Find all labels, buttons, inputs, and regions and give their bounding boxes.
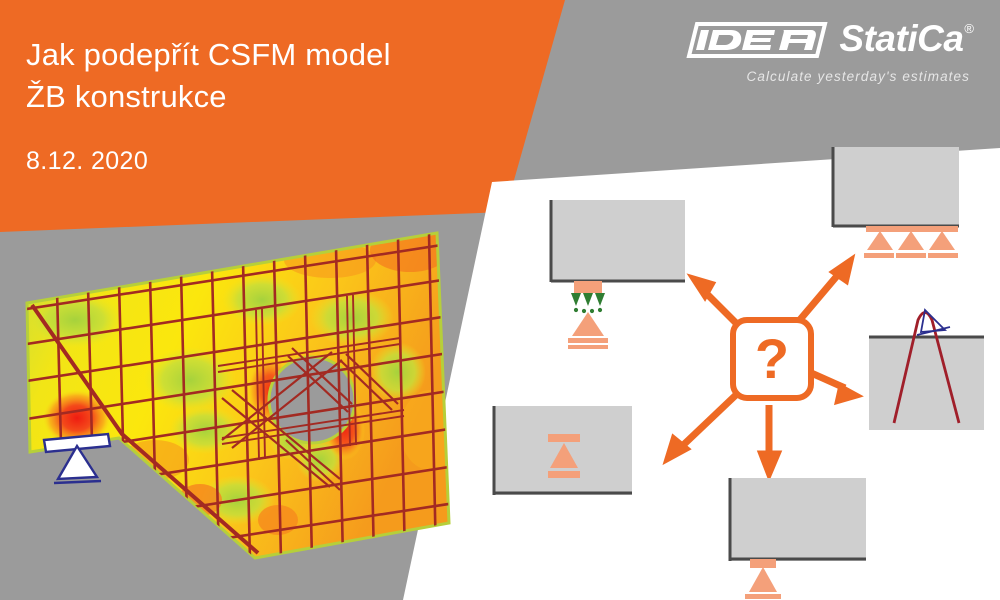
question-node[interactable]: ? xyxy=(733,320,811,398)
event-date: 8.12. 2020 xyxy=(26,146,496,176)
bonded-point-support-tile[interactable] xyxy=(551,200,685,349)
logo-wordmark: StatiCa xyxy=(839,20,963,57)
arrow-down xyxy=(759,405,780,478)
arrow-up-left xyxy=(690,276,736,323)
tile-body[interactable] xyxy=(869,337,984,430)
support-triangle-1 xyxy=(867,231,893,250)
registered-trademark-icon: ® xyxy=(964,22,974,35)
support-base-line xyxy=(745,594,781,599)
tile-body[interactable] xyxy=(730,478,866,561)
internal-support-tile[interactable] xyxy=(494,406,632,495)
tile-body[interactable] xyxy=(833,147,959,227)
support-head-plate xyxy=(574,281,602,293)
single-point-support-icon xyxy=(745,559,781,599)
rebar-loop-support-tile[interactable] xyxy=(869,310,984,430)
support-base-line xyxy=(568,338,608,343)
banner-canvas: ? xyxy=(0,0,1000,600)
distributed-supports-tile[interactable] xyxy=(833,147,959,258)
logo-tagline: Calculate yesterday's estimates xyxy=(679,69,970,84)
arrow-right xyxy=(809,372,860,403)
point-support-with-bond-icon xyxy=(568,281,608,349)
support-ground-3 xyxy=(928,253,958,258)
page-title-line-1: Jak podepřít CSFM model xyxy=(26,34,496,76)
support-ground-line xyxy=(568,345,608,349)
support-triangle-2 xyxy=(898,231,924,250)
arrow-up-right xyxy=(798,257,853,322)
arrow-down-left xyxy=(665,393,738,462)
support-triangle-3 xyxy=(929,231,955,250)
support-ground-1 xyxy=(864,253,894,258)
single-point-support-tile[interactable] xyxy=(730,478,866,599)
question-mark-label: ? xyxy=(755,327,789,390)
support-ground-2 xyxy=(896,253,926,258)
support-triangle-icon xyxy=(572,312,604,336)
idea-logo-mark xyxy=(679,20,829,60)
support-top-plate xyxy=(866,226,958,232)
three-point-line-supports-icon xyxy=(864,226,958,258)
page-title-line-2: ŽB konstrukce xyxy=(26,76,496,118)
headline-block: Jak podepřít CSFM model ŽB konstrukce 8.… xyxy=(26,34,496,176)
tile-body[interactable] xyxy=(551,200,685,282)
brand-logo[interactable]: StatiCa ® Calculate yesterday's estimate… xyxy=(679,20,974,84)
support-base-line xyxy=(548,471,580,478)
support-top-plate xyxy=(548,434,580,442)
bond-arrows-icon xyxy=(571,293,605,313)
support-head-plate xyxy=(750,559,776,568)
support-triangle-icon xyxy=(749,567,777,592)
